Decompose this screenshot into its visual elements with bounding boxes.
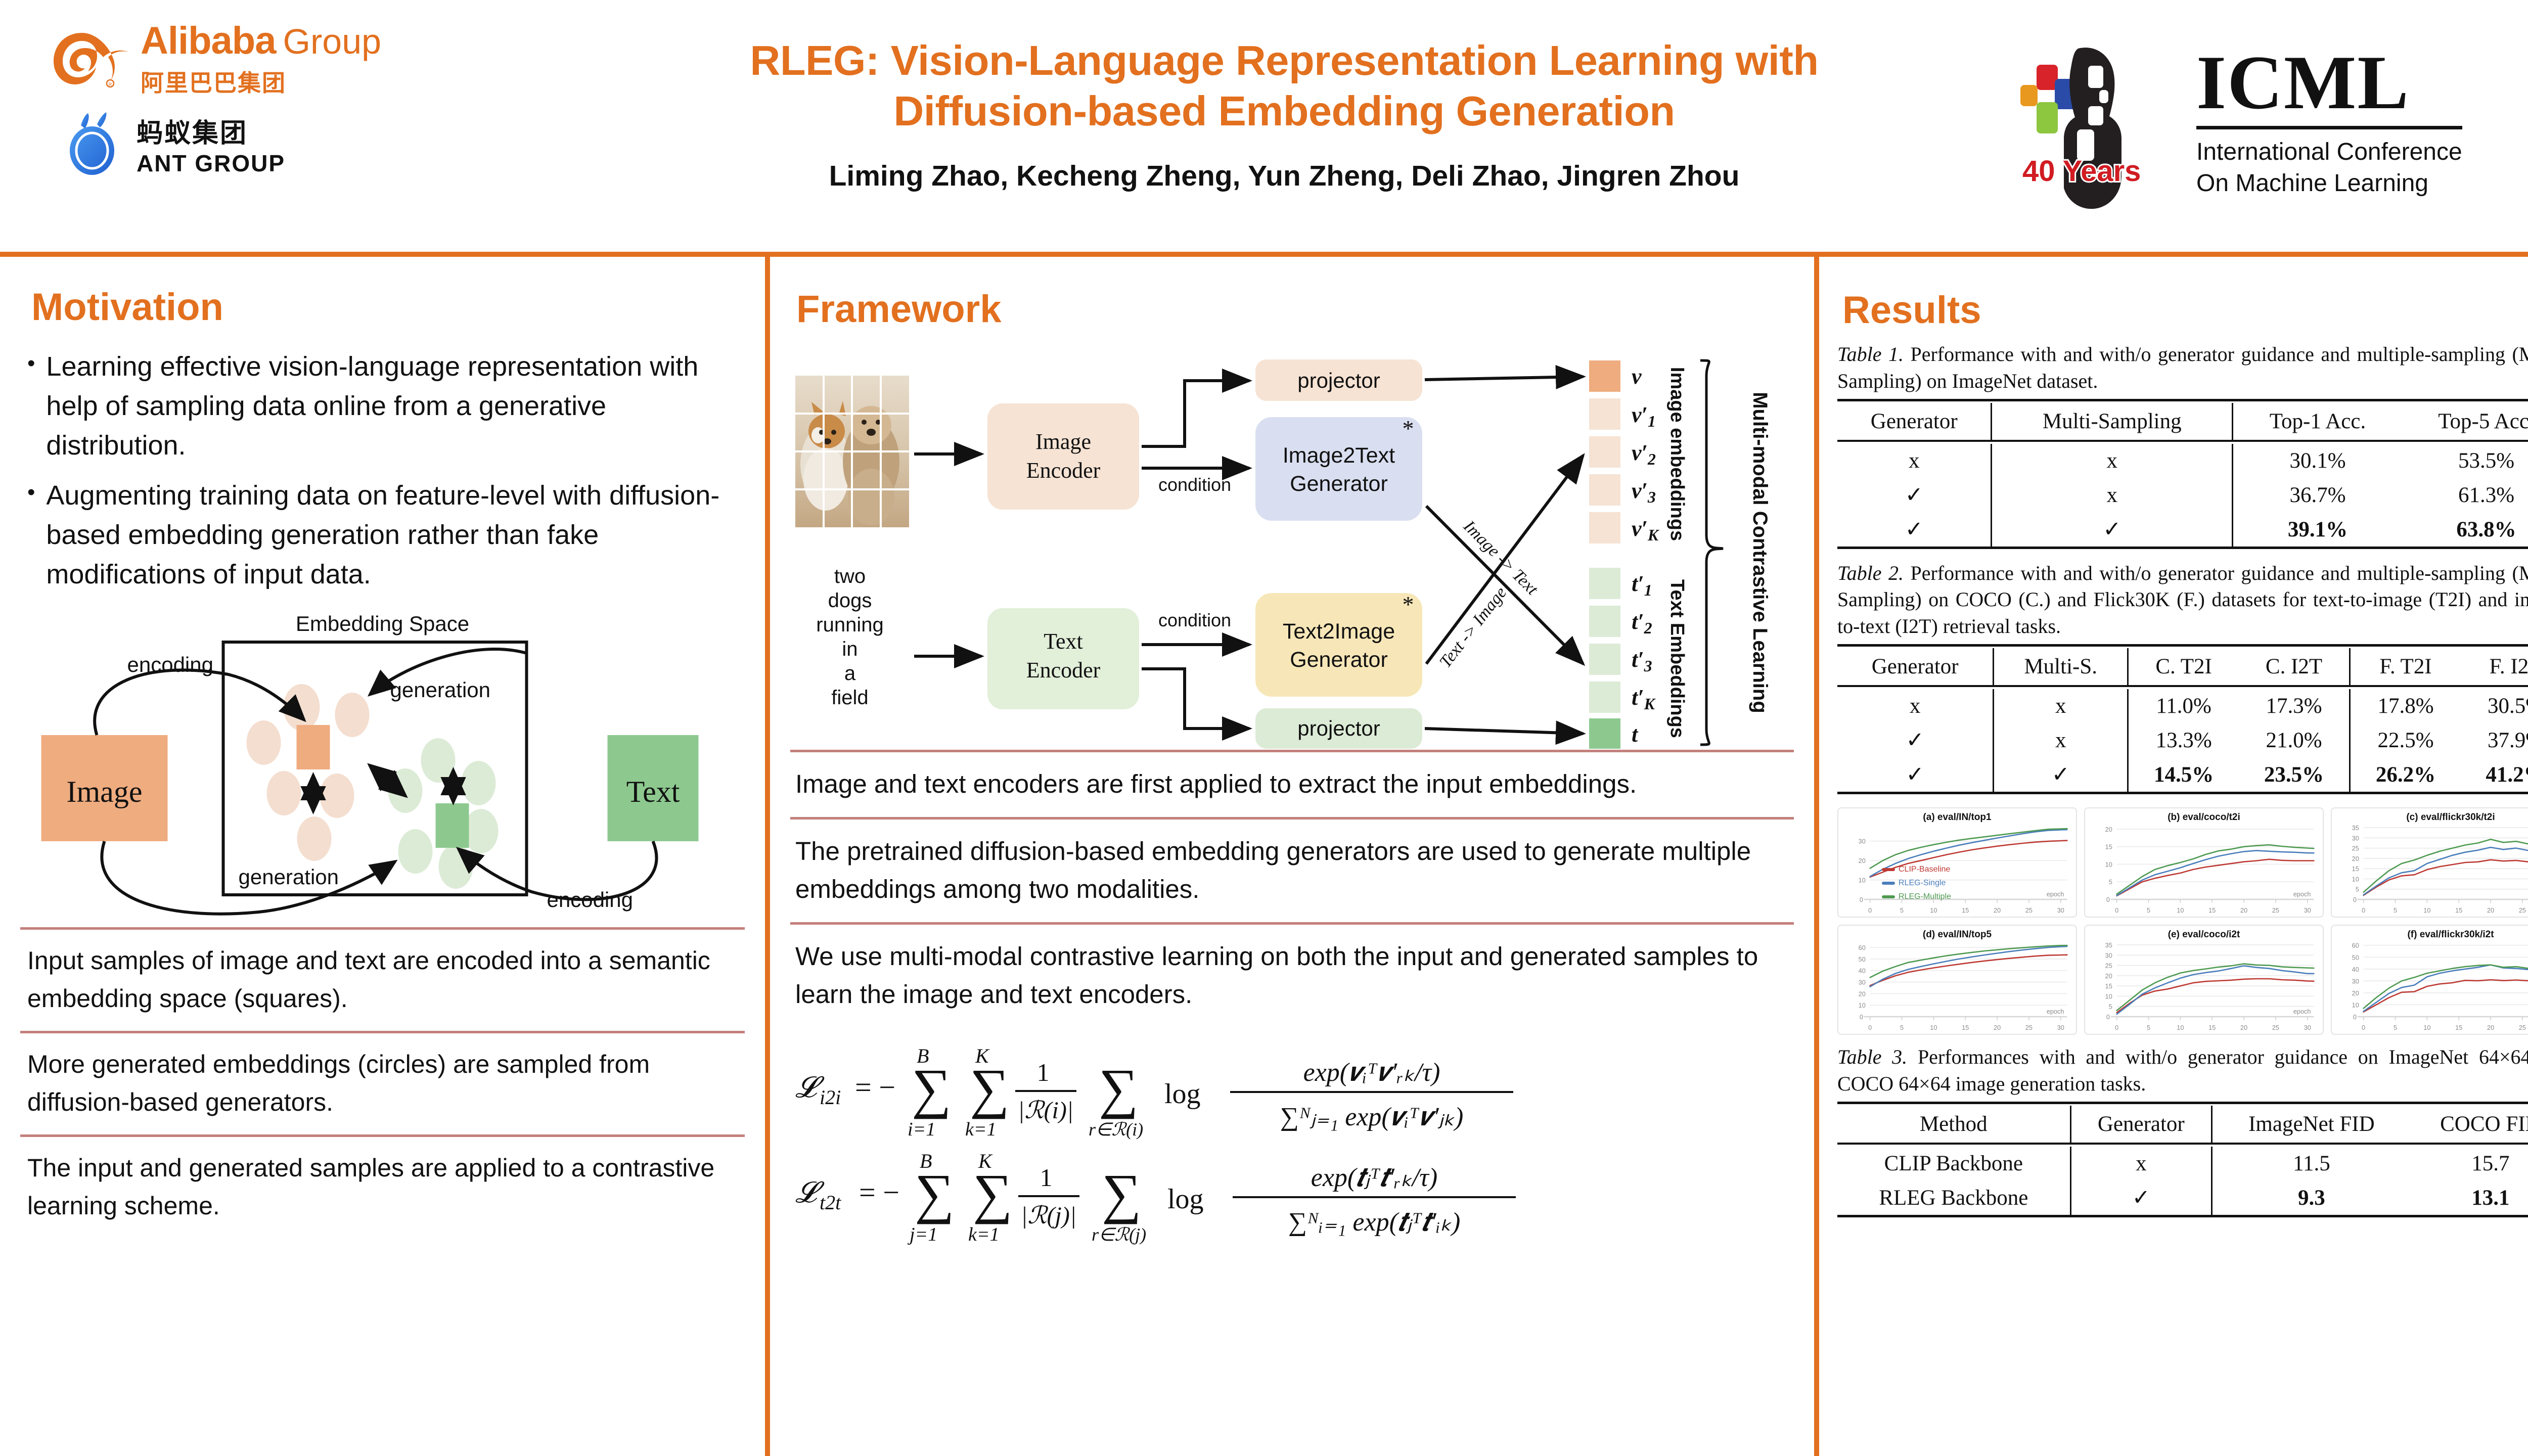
svg-text:30: 30 (2105, 951, 2112, 959)
table1-header-3: Top-5 Acc. (2402, 403, 2528, 441)
t2-r2-c1: ✓ (1994, 757, 2128, 793)
title-block: RLEG: Vision-Language Representation Lea… (592, 35, 1977, 193)
svg-text:20: 20 (1859, 857, 1866, 864)
svg-text:15: 15 (2455, 906, 2462, 914)
header-bottom-rule (0, 252, 2528, 257)
legend-item-single: RLEG-Single (1882, 879, 1951, 888)
column-divider-right (1814, 252, 1819, 1456)
framework-note-3: We use multi-modal contrastive learning … (790, 925, 1794, 1027)
svg-text:0: 0 (2106, 1013, 2110, 1021)
poster-header: R Alibaba Group 阿里巴巴集团 (0, 0, 2528, 253)
svg-text:50: 50 (1859, 955, 1866, 963)
svg-text:v′2: v′2 (1632, 440, 1656, 468)
svg-text:5: 5 (2109, 1003, 2112, 1011)
t2-r2-c0: ✓ (1837, 757, 1994, 793)
svg-text:1: 1 (1040, 1163, 1053, 1192)
svg-text:k=1: k=1 (965, 1119, 997, 1140)
svg-text:5: 5 (2356, 886, 2359, 893)
legend-swatch-multiple (1882, 895, 1895, 898)
icml-mark-icon: 40 Years (2017, 30, 2184, 212)
svg-text:Embedding Space: Embedding Space (296, 612, 469, 635)
table1-header-1: Multi-Sampling (1992, 403, 2233, 441)
svg-text:5: 5 (1900, 906, 1904, 914)
results-table-2: Generator Multi-S. C. T2I C. I2T F. T2I … (1837, 644, 2528, 796)
results-table-3: Method Generator ImageNet FID COCO FID C… (1837, 1102, 2528, 1219)
t2-r1-c0: ✓ (1837, 723, 1994, 757)
table-row: ✓ x 13.3% 21.0% 22.5% 37.9% (1837, 723, 2528, 757)
svg-text:35: 35 (2352, 824, 2359, 832)
table1-caption-label: Table 1. (1837, 343, 1904, 366)
svg-text:K: K (978, 1150, 993, 1172)
t1-r0-c0: x (1837, 444, 1992, 478)
t3-header-1: Generator (2070, 1106, 2211, 1144)
framework-note-1: Image and text encoders are first applie… (790, 752, 1794, 817)
icml-logo: 40 Years ICML International Conference O… (2017, 30, 2462, 212)
chart-card-d: (d) eval/IN/top5 10203040506000510152025… (1837, 925, 2077, 1035)
svg-text:R: R (109, 82, 112, 87)
table-row: CLIP Backbone x 11.5 15.7 (1837, 1147, 2528, 1180)
t3-header-2: ImageNet FID (2212, 1106, 2411, 1144)
svg-text:20: 20 (1859, 990, 1866, 997)
svg-text:5: 5 (1900, 1024, 1904, 1031)
svg-text:30: 30 (2304, 906, 2311, 914)
svg-text:Text2Image: Text2Image (1283, 619, 1395, 644)
chart-b-plot: 51015200051015202530epoch (2085, 822, 2323, 918)
table1-header-0: Generator (1837, 403, 1992, 441)
motivation-heading: Motivation (31, 285, 745, 329)
bullet-dot-icon: • (27, 347, 35, 465)
svg-text:15: 15 (2455, 1024, 2462, 1031)
svg-text:Encoder: Encoder (1026, 458, 1101, 483)
icml-wordmark: ICML International Conference On Machine… (2196, 44, 2462, 199)
ant-wordmark: 蚂蚁集团 ANT GROUP (137, 112, 285, 177)
t2-r0-c4: 17.8% (2350, 689, 2461, 723)
svg-text:15: 15 (2352, 865, 2359, 873)
svg-text:10: 10 (2423, 1024, 2430, 1031)
svg-text:15: 15 (2208, 1024, 2216, 1031)
svg-text:10: 10 (2177, 1024, 2184, 1031)
svg-text:Generator: Generator (1290, 472, 1388, 496)
svg-text:Image: Image (67, 775, 143, 808)
svg-text:5: 5 (2147, 906, 2150, 914)
svg-text:10: 10 (1859, 1002, 1866, 1009)
svg-text:projector: projector (1297, 716, 1380, 740)
results-column: Results Table 1. Performance with and wi… (1819, 257, 2528, 1219)
svg-text:v′K: v′K (1632, 516, 1660, 544)
svg-text:= −: = − (855, 1071, 895, 1104)
ant-english-name: ANT GROUP (137, 150, 285, 177)
svg-text:condition: condition (1158, 610, 1231, 630)
svg-text:60: 60 (2352, 942, 2359, 949)
svg-text:∑: ∑ (1099, 1058, 1138, 1119)
alibaba-logo: R Alibaba Group 阿里巴巴集团 (51, 20, 586, 96)
svg-text:10: 10 (2352, 875, 2359, 883)
table-row: ✓ x 36.7% 61.3% (1837, 478, 2528, 512)
svg-text:log: log (1164, 1078, 1201, 1110)
svg-text:j=1: j=1 (907, 1224, 937, 1245)
svg-text:t′K: t′K (1632, 685, 1656, 713)
svg-text:two: two (834, 565, 866, 587)
chart-card-b: (b) eval/coco/t2i 51015200051015202530ep… (2084, 807, 2324, 918)
t2-header-2: C. T2I (2128, 648, 2239, 686)
t2-r0-c5: 30.5% (2461, 689, 2528, 723)
svg-text:B: B (920, 1150, 932, 1172)
svg-text:20: 20 (1994, 1024, 2001, 1031)
t2-r0-c0: x (1837, 689, 1994, 723)
svg-text:25: 25 (2272, 906, 2279, 914)
motivation-bullet-list: • Learning effective vision-language rep… (27, 347, 745, 595)
svg-text:30: 30 (1859, 978, 1866, 986)
svg-text:20: 20 (2240, 906, 2247, 914)
t3-r1-c0: RLEG Backbone (1837, 1180, 2070, 1216)
table3-caption-label: Table 3. (1837, 1045, 1907, 1068)
t1-r2-c0: ✓ (1837, 512, 1992, 548)
svg-text:25: 25 (2025, 906, 2033, 914)
table-header-row: Generator Multi-S. C. T2I C. I2T F. T2I … (1837, 648, 2528, 686)
t2-r1-c2: 13.3% (2128, 723, 2239, 757)
t1-r0-c1: x (1992, 444, 2233, 478)
t2-r1-c4: 22.5% (2350, 723, 2461, 757)
svg-text:25: 25 (2352, 844, 2359, 852)
t3-r1-c1: ✓ (2070, 1180, 2211, 1216)
svg-text:0: 0 (2362, 906, 2365, 914)
column-divider-left (765, 252, 770, 1456)
alibaba-mark-icon: R (51, 28, 131, 88)
legend-item-baseline: CLIP-Baseline (1882, 865, 1951, 874)
t2-r0-c1: x (1994, 689, 2128, 723)
chart-card-e: (e) eval/coco/i2t 5101520253035005101520… (2084, 925, 2324, 1035)
svg-text:20: 20 (2352, 855, 2359, 862)
author-list: Liming Zhao, Kecheng Zheng, Yun Zheng, D… (592, 159, 1977, 193)
svg-text:10: 10 (1859, 876, 1866, 884)
results-table-1: Generator Multi-Sampling Top-1 Acc. Top-… (1837, 399, 2528, 551)
svg-text:Image embeddings: Image embeddings (1666, 367, 1688, 541)
svg-text:t′2: t′2 (1632, 609, 1652, 637)
icml-anniversary-badge: 40 Years (2022, 154, 2141, 188)
svg-text:0: 0 (2353, 1013, 2357, 1021)
results-heading: Results (1842, 288, 2528, 332)
table-row: x x 11.0% 17.3% 17.8% 30.5% (1837, 689, 2528, 723)
svg-text:epoch: epoch (2293, 1008, 2311, 1015)
svg-text:k=1: k=1 (968, 1224, 1000, 1245)
framework-diagram: two dogs running in a field Image Encode… (790, 345, 1794, 750)
svg-text:0: 0 (1868, 906, 1872, 914)
svg-text:10: 10 (2105, 860, 2112, 868)
svg-text:0: 0 (2115, 906, 2118, 914)
bullet-dot-icon: • (27, 476, 35, 594)
svg-text:∑: ∑ (1102, 1163, 1141, 1224)
svg-text:50: 50 (2352, 953, 2359, 961)
svg-text:Multi-modal Contrastive Learni: Multi-modal Contrastive Learning (1749, 392, 1771, 713)
alibaba-chinese-name: 阿里巴巴集团 (141, 65, 381, 98)
embedding-space-figure: Embedding Space (20, 609, 745, 927)
t2-header-3: C. I2T (2239, 648, 2350, 686)
ant-mark-icon (66, 111, 126, 177)
svg-text:0: 0 (2362, 1024, 2365, 1031)
t3-r0-c0: CLIP Backbone (1837, 1147, 2070, 1180)
svg-text:30: 30 (2304, 1024, 2311, 1031)
svg-text:15: 15 (1962, 1024, 1969, 1031)
t2-r2-c3: 23.5% (2239, 757, 2350, 793)
svg-text:5: 5 (2109, 878, 2112, 886)
svg-text:20: 20 (2240, 1024, 2247, 1031)
svg-text:t′3: t′3 (1632, 647, 1652, 675)
alibaba-group-word: Group (283, 21, 382, 62)
svg-text:i2i: i2i (820, 1086, 841, 1109)
svg-text:40: 40 (1859, 967, 1866, 975)
t2-r1-c3: 21.0% (2239, 723, 2350, 757)
svg-text:K: K (975, 1044, 990, 1067)
svg-text:10: 10 (2105, 992, 2112, 1000)
motivation-note-1: Input samples of image and text are enco… (20, 930, 745, 1031)
svg-text:field: field (831, 687, 868, 709)
svg-text:0: 0 (2106, 896, 2110, 903)
svg-text:0: 0 (1860, 896, 1863, 903)
framework-column: Framework (770, 257, 1814, 1247)
framework-note-2: The pretrained diffusion-based embedding… (790, 820, 1794, 922)
table1-header-2: Top-1 Acc. (2233, 403, 2402, 441)
table1-caption-text: Performance with and with/o generator gu… (1837, 343, 2528, 392)
svg-text:0: 0 (2353, 896, 2357, 903)
svg-text:B: B (917, 1044, 929, 1067)
t2-r2-c4: 26.2% (2350, 757, 2461, 793)
motivation-note-3: The input and generated samples are appl… (20, 1137, 745, 1238)
table3-caption: Table 3. Performances with and with/o ge… (1837, 1044, 2528, 1098)
legend-swatch-baseline (1882, 868, 1895, 871)
svg-text:25: 25 (2105, 962, 2112, 969)
chart-e-plot: 51015202530350051015202530epoch (2085, 939, 2323, 1035)
svg-text:10: 10 (1930, 906, 1937, 914)
legend-item-multiple: RLEG-Multiple (1882, 892, 1951, 901)
svg-text:15: 15 (2208, 906, 2216, 914)
svg-text:20: 20 (2352, 989, 2359, 997)
svg-text:a: a (844, 662, 856, 685)
table2-caption-text: Performance with and with/o generator gu… (1837, 562, 2528, 638)
table2-caption: Table 2. Performance with and with/o gen… (1837, 560, 2528, 640)
t1-r1-c3: 61.3% (2402, 478, 2528, 512)
motivation-column: Motivation • Learning effective vision-l… (0, 257, 765, 1238)
t2-header-0: Generator (1837, 648, 1994, 686)
motivation-note-2: More generated embeddings (circles) are … (20, 1033, 745, 1134)
legend-swatch-single (1882, 882, 1895, 885)
svg-text:20: 20 (2105, 972, 2112, 980)
svg-text:v′3: v′3 (1632, 478, 1656, 506)
svg-text:10: 10 (2352, 1001, 2359, 1009)
loss-formulas: 𝓛 i2i = − ∑ B i=1 ∑ K k=1 1 |ℛ(i)| ∑ r∈ℛ… (790, 1036, 1794, 1247)
t1-r0-c2: 30.1% (2233, 444, 2402, 478)
svg-text:exp(𝒕ⱼᵀ𝒕′ᵣₖ/τ): exp(𝒕ⱼᵀ𝒕′ᵣₖ/τ) (1311, 1163, 1438, 1192)
table-row: ✓ ✓ 39.1% 63.8% (1837, 512, 2528, 548)
t2-r0-c2: 11.0% (2128, 689, 2239, 723)
svg-text:exp(𝒗ᵢᵀ𝒗′ᵣₖ/τ): exp(𝒗ᵢᵀ𝒗′ᵣₖ/τ) (1303, 1058, 1440, 1087)
svg-text:epoch: epoch (2293, 890, 2311, 898)
svg-text:generation: generation (239, 865, 339, 889)
svg-text:generation: generation (390, 678, 491, 702)
chart-card-c: (c) eval/flickr30k/t2i 51015202530350051… (2331, 807, 2528, 918)
svg-text:20: 20 (1994, 906, 2001, 914)
svg-text:30: 30 (2057, 1024, 2064, 1031)
t1-r1-c2: 36.7% (2233, 478, 2402, 512)
table-row: x x 30.1% 53.5% (1837, 444, 2528, 478)
svg-text:dogs: dogs (828, 589, 872, 612)
svg-text:Text Embeddings: Text Embeddings (1666, 579, 1688, 738)
svg-text:Image2Text: Image2Text (1283, 443, 1395, 468)
title-line-1: RLEG: Vision-Language Representation Lea… (750, 37, 1818, 84)
svg-text:0: 0 (2115, 1024, 2118, 1031)
svg-text:25: 25 (2272, 1024, 2279, 1031)
svg-text:Image -> Text: Image -> Text (1460, 517, 1542, 599)
framework-heading: Framework (796, 287, 1794, 331)
svg-text:5: 5 (2394, 1024, 2397, 1031)
table3-caption-text: Performances with and with/o generator g… (1837, 1045, 2528, 1095)
t1-r0-c3: 53.5% (2402, 444, 2528, 478)
t2-r2-c5: 41.2% (2461, 757, 2528, 793)
svg-text:Text: Text (626, 775, 680, 808)
legend-label-multiple: RLEG-Multiple (1899, 892, 1951, 901)
svg-text:t: t (1632, 722, 1639, 747)
ant-chinese-name: 蚂蚁集团 (137, 112, 285, 150)
svg-text:t′1: t′1 (1632, 571, 1652, 599)
svg-text:Text -> Image: Text -> Image (1436, 583, 1510, 671)
svg-text:35: 35 (2105, 941, 2112, 949)
svg-text:20: 20 (2105, 826, 2112, 833)
t2-r0-c3: 17.3% (2239, 689, 2350, 723)
svg-text:30: 30 (1859, 838, 1866, 845)
svg-text:Generator: Generator (1290, 648, 1388, 672)
list-item: • Augmenting training data on feature-le… (27, 476, 745, 594)
t3-r0-c3: 15.7 (2411, 1147, 2528, 1180)
svg-text:60: 60 (1859, 944, 1866, 951)
title-line-2: Diffusion-based Embedding Generation (893, 87, 1675, 134)
ant-group-logo: 蚂蚁集团 ANT GROUP (66, 106, 586, 182)
svg-text:Text: Text (1044, 629, 1083, 654)
t1-r2-c2: 39.1% (2233, 512, 2402, 548)
svg-text:condition: condition (1158, 474, 1231, 495)
legend-label-single: RLEG-Single (1899, 879, 1946, 888)
icml-divider (2196, 126, 2462, 129)
alibaba-name: Alibaba (141, 19, 276, 63)
t1-r1-c0: ✓ (1837, 478, 1992, 512)
legend-label-baseline: CLIP-Baseline (1899, 865, 1950, 874)
svg-text:5: 5 (2147, 1024, 2150, 1031)
t3-r0-c1: x (2070, 1147, 2211, 1180)
table1-caption: Table 1. Performance with and with/o gen… (1837, 341, 2528, 395)
svg-text:|ℛ(j)|: |ℛ(j)| (1021, 1202, 1076, 1229)
svg-text:r∈ℛ(i): r∈ℛ(i) (1089, 1119, 1143, 1140)
chart-a-plot: 1020300051015202530epoch (1838, 822, 2076, 918)
t2-header-1: Multi-S. (1994, 648, 2128, 686)
svg-text:10: 10 (2177, 906, 2184, 914)
svg-text:running: running (816, 614, 883, 636)
table-header-row: Generator Multi-Sampling Top-1 Acc. Top-… (1837, 403, 2528, 441)
t2-r1-c1: x (1994, 723, 2128, 757)
svg-text:30: 30 (2352, 977, 2359, 985)
svg-text:log: log (1167, 1184, 1204, 1215)
chart-card-f: (f) eval/flickr30k/i2t 10203040506000510… (2331, 925, 2528, 1035)
table-row: RLEG Backbone ✓ 9.3 13.1 (1837, 1180, 2528, 1216)
t3-header-0: Method (1837, 1106, 2070, 1144)
svg-text:*: * (1403, 591, 1414, 617)
svg-text:t2t: t2t (820, 1191, 841, 1214)
svg-text:|ℛ(i)|: |ℛ(i)| (1018, 1097, 1073, 1124)
list-item: • Learning effective vision-language rep… (27, 347, 745, 465)
svg-text:25: 25 (2519, 906, 2526, 914)
svg-text:5: 5 (2394, 906, 2397, 914)
svg-text:epoch: epoch (2047, 1008, 2064, 1015)
alibaba-wordmark: Alibaba Group 阿里巴巴集团 (141, 19, 381, 98)
svg-text:= −: = − (859, 1176, 899, 1209)
svg-text:Encoder: Encoder (1026, 658, 1101, 682)
svg-text:15: 15 (1962, 906, 1969, 914)
icml-subtitle: International Conference On Machine Lear… (2196, 136, 2462, 199)
chart-f-plot: 1020304050600051015202530epoch (2332, 939, 2528, 1035)
chart-c-plot: 51015202530350051015202530epoch (2332, 822, 2528, 918)
svg-text:v: v (1632, 364, 1642, 389)
svg-text:10: 10 (1930, 1024, 1937, 1031)
svg-text:15: 15 (2105, 843, 2112, 851)
table-header-row: Method Generator ImageNet FID COCO FID (1837, 1106, 2528, 1144)
table-row: ✓ ✓ 14.5% 23.5% 26.2% 41.2% (1837, 757, 2528, 793)
t2-header-5: F. I2T (2461, 648, 2528, 686)
svg-text:∑ᴺᵢ₌₁ exp(𝒕ⱼᵀ𝒕′ᵢₖ): ∑ᴺᵢ₌₁ exp(𝒕ⱼᵀ𝒕′ᵢₖ) (1288, 1208, 1461, 1237)
svg-text:30: 30 (2352, 834, 2359, 842)
t1-r2-c1: ✓ (1992, 512, 2233, 548)
chart-legend: CLIP-Baseline RLEG-Single RLEG-Multiple (1882, 865, 1951, 901)
page-title: RLEG: Vision-Language Representation Lea… (592, 35, 1977, 136)
svg-text:25: 25 (2519, 1024, 2526, 1031)
svg-text:0: 0 (1860, 1013, 1863, 1021)
table2-caption-label: Table 2. (1837, 562, 1904, 584)
icml-subtitle-line1: International Conference (2196, 139, 2462, 165)
motivation-bullet-1: Learning effective vision-language repre… (46, 347, 745, 465)
svg-text:20: 20 (2487, 1024, 2494, 1031)
svg-text:0: 0 (1868, 1024, 1872, 1031)
svg-text:*: * (1403, 416, 1414, 441)
svg-text:epoch: epoch (2047, 890, 2064, 898)
svg-text:encoding: encoding (127, 653, 213, 676)
svg-text:encoding: encoding (547, 888, 633, 912)
svg-text:v′1: v′1 (1632, 402, 1656, 430)
t3-r0-c2: 11.5 (2212, 1147, 2411, 1180)
t2-r2-c2: 14.5% (2128, 757, 2239, 793)
chart-d-plot: 1020304050600051015202530epoch (1838, 939, 2076, 1035)
results-chart-grid: (a) eval/IN/top1 1020300051015202530epoc… (1837, 807, 2528, 1035)
t1-r2-c3: 63.8% (2402, 512, 2528, 548)
t2-r1-c5: 37.9% (2461, 723, 2528, 757)
icml-acronym: ICML (2196, 44, 2462, 121)
svg-text:20: 20 (2487, 906, 2494, 914)
t1-r1-c1: x (1992, 478, 2233, 512)
sponsor-logos: R Alibaba Group 阿里巴巴集团 (51, 20, 586, 182)
chart-card-a: (a) eval/IN/top1 1020300051015202530epoc… (1837, 807, 2077, 918)
svg-text:projector: projector (1297, 369, 1380, 392)
formula-l-i2i: 𝓛 i2i = − ∑ B i=1 ∑ K k=1 1 |ℛ(i)| ∑ r∈ℛ… (790, 1036, 1794, 1142)
motivation-bullet-2: Augmenting training data on feature-leve… (46, 476, 745, 594)
svg-text:15: 15 (2105, 982, 2112, 990)
svg-text:Image: Image (1035, 429, 1091, 454)
svg-text:i=1: i=1 (908, 1119, 935, 1140)
svg-text:25: 25 (2025, 1024, 2033, 1031)
t3-r1-c2: 9.3 (2212, 1180, 2411, 1216)
icml-subtitle-line2: On Machine Learning (2196, 170, 2428, 197)
svg-text:1: 1 (1037, 1058, 1050, 1086)
t3-header-3: COCO FID (2411, 1106, 2528, 1144)
svg-text:40: 40 (2352, 966, 2359, 973)
svg-text:∑ᴺⱼ₌₁ exp(𝒗ᵢᵀ𝒗′ⱼₖ): ∑ᴺⱼ₌₁ exp(𝒗ᵢᵀ𝒗′ⱼₖ) (1280, 1103, 1464, 1131)
t3-r1-c3: 13.1 (2411, 1180, 2528, 1216)
svg-text:in: in (842, 638, 857, 660)
svg-text:30: 30 (2057, 906, 2064, 914)
